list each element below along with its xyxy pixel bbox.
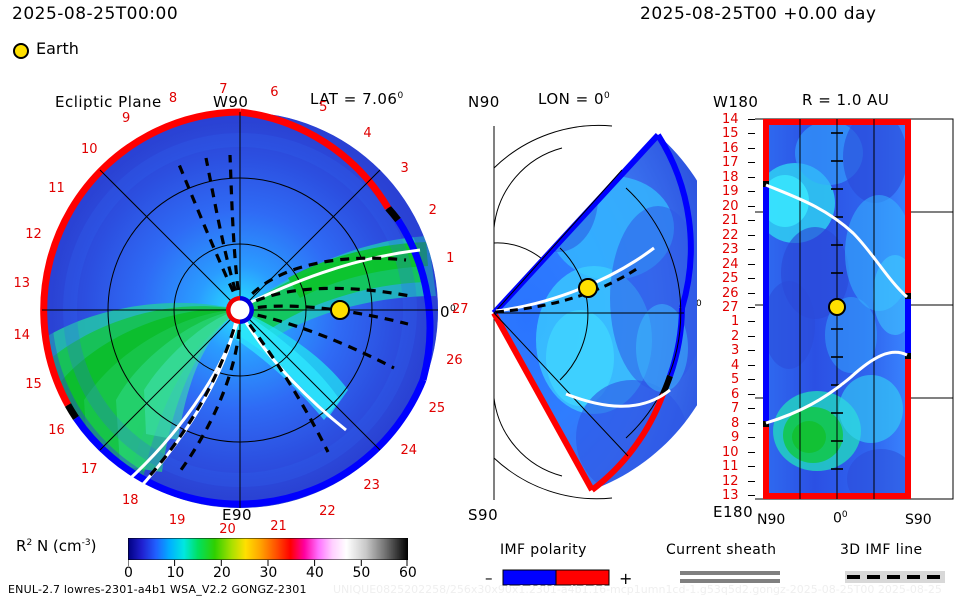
ecliptic-rim-label: 21 xyxy=(270,520,287,533)
map-y-tick-label: 13 xyxy=(722,489,739,502)
map-y-tick-mark xyxy=(748,293,755,294)
map-y-tick-mark xyxy=(748,495,755,496)
map-y-tick-mark xyxy=(748,307,755,308)
meridional-panel-title: LON = 00 xyxy=(538,92,610,107)
ecliptic-rim-label: 6 xyxy=(270,86,278,99)
map-y-tick-label: 2 xyxy=(731,330,739,343)
map-y-tick-label: 12 xyxy=(722,475,739,488)
map-y-tick-label: 14 xyxy=(722,113,739,126)
ecliptic-plot-svg xyxy=(28,100,458,520)
colorbar-tick-label: 40 xyxy=(306,566,324,580)
colorbar-tick-label: 20 xyxy=(213,566,231,580)
map-x-zero-text: 0 xyxy=(833,511,842,527)
map-y-tick-label: 8 xyxy=(731,417,739,430)
colorbar-tick-label: 30 xyxy=(260,566,278,580)
map-y-tick-label: 22 xyxy=(722,229,739,242)
map-y-tick-label: 25 xyxy=(722,272,739,285)
meridional-title-text: LON = 0 xyxy=(538,90,604,108)
map-y-tick-mark xyxy=(748,119,755,120)
map-y-tick-mark xyxy=(748,379,755,380)
map-y-tick-label: 20 xyxy=(722,200,739,213)
imf-3d-swatch xyxy=(845,570,950,584)
map-y-tick-label: 1 xyxy=(731,315,739,328)
map-y-tick-mark xyxy=(748,437,755,438)
map-y-tick-mark xyxy=(748,177,755,178)
map-y-tick-mark xyxy=(748,394,755,395)
colorbar-tick-label: 10 xyxy=(167,566,185,580)
ecliptic-rim-label: 20 xyxy=(219,523,236,536)
colorbar-tick-label: 60 xyxy=(399,566,417,580)
map-y-tick-label: 10 xyxy=(722,446,739,459)
map-x-label-zero: 00 xyxy=(833,511,848,526)
map-y-tick-mark xyxy=(748,350,755,351)
map-y-tick-label: 9 xyxy=(731,431,739,444)
map-y-tick-mark xyxy=(748,336,755,337)
map-y-tick-label: 4 xyxy=(731,359,739,372)
imf-3d-legend xyxy=(845,570,950,584)
earth-marker-ecliptic xyxy=(331,301,349,319)
meridional-title-degree: 0 xyxy=(604,91,610,101)
map-y-tick-label: 11 xyxy=(722,460,739,473)
synoptic-map-plot xyxy=(755,113,960,505)
colorbar-tick-label: 50 xyxy=(353,566,371,580)
map-y-tick-mark xyxy=(748,264,755,265)
map-x-label-n90: N90 xyxy=(757,513,785,527)
map-y-tick-label: 3 xyxy=(731,344,739,357)
map-y-tick-mark xyxy=(748,466,755,467)
colorbar xyxy=(128,538,418,568)
map-y-tick-mark xyxy=(748,481,755,482)
colorbar-label-unit-exp: -3 xyxy=(82,538,91,548)
colorbar-label-rest: N (cm xyxy=(32,537,81,555)
colorbar-ticks xyxy=(128,560,418,568)
map-y-tick-label: 16 xyxy=(722,142,739,155)
map-y-tick-label: 6 xyxy=(731,388,739,401)
map-y-tick-mark xyxy=(748,133,755,134)
timestamp-left: 2025-08-25T00:00 xyxy=(12,6,178,23)
map-y-tick-mark xyxy=(748,249,755,250)
footer-model-text: ENUL-2.7 lowres-2301-a4b1 WSA_V2.2 GONGZ… xyxy=(8,584,307,595)
current-sheath-legend xyxy=(680,570,790,584)
earth-marker-map xyxy=(829,299,845,315)
earth-legend-label: Earth xyxy=(36,41,79,57)
map-x-label-s90: S90 xyxy=(905,513,932,527)
map-y-tick-mark xyxy=(748,408,755,409)
map-y-tick-mark xyxy=(748,365,755,366)
map-y-tick-label: 27 xyxy=(722,301,739,314)
meridional-plot-svg xyxy=(462,108,697,508)
colorbar-label-close: ) xyxy=(91,537,97,555)
colorbar-label: R2 N (cm-3) xyxy=(16,539,96,554)
colorbar-tick-label: 0 xyxy=(124,566,133,580)
current-sheath-swatch xyxy=(680,570,790,584)
meridional-plane-plot xyxy=(462,108,697,508)
map-y-tick-mark xyxy=(748,220,755,221)
map-y-tick-label: 7 xyxy=(731,402,739,415)
meridional-bottom-axis-label: S90 xyxy=(468,508,498,523)
map-y-tick-mark xyxy=(748,191,755,192)
colorbar-gradient xyxy=(128,538,408,560)
map-y-tick-mark xyxy=(748,162,755,163)
earth-legend-icon xyxy=(10,40,160,62)
map-y-tick-label: 23 xyxy=(722,243,739,256)
map-y-tick-label: 21 xyxy=(722,214,739,227)
map-y-tick-label: 5 xyxy=(731,373,739,386)
map-y-tick-label: 19 xyxy=(722,185,739,198)
map-y-tick-mark xyxy=(748,321,755,322)
imf-3d-legend-title: 3D IMF line xyxy=(840,543,923,557)
map-x-zero-degree: 0 xyxy=(842,510,848,520)
ecliptic-plane-plot xyxy=(28,100,458,520)
map-bottom-left-label: E180 xyxy=(713,505,753,520)
map-y-tick-label: 24 xyxy=(722,258,739,271)
map-y-tick-mark xyxy=(748,148,755,149)
timestamp-right: 2025-08-25T00 +0.00 day xyxy=(640,6,876,23)
map-top-left-label: W180 xyxy=(713,95,758,110)
map-y-tick-label: 17 xyxy=(722,156,739,169)
footer-watermark: UNIQUE0825202258/256x30x90x1.2301-a4b1.1… xyxy=(333,584,942,595)
colorbar-label-r: R xyxy=(16,537,26,555)
map-y-tick-mark xyxy=(748,278,755,279)
current-sheath-legend-title: Current sheath xyxy=(666,543,776,557)
sun-marker xyxy=(226,296,254,324)
earth-marker-meridional xyxy=(579,279,597,297)
earth-legend: Earth xyxy=(10,40,160,62)
imf-polarity-legend-title: IMF polarity xyxy=(500,543,587,557)
synoptic-map-svg xyxy=(755,113,960,505)
map-y-tick-mark xyxy=(748,423,755,424)
map-y-tick-label: 26 xyxy=(722,287,739,300)
map-y-tick-mark xyxy=(748,235,755,236)
map-y-tick-mark xyxy=(748,206,755,207)
map-y-tick-mark xyxy=(748,452,755,453)
map-y-tick-label: 15 xyxy=(722,127,739,140)
map-y-tick-label: 18 xyxy=(722,171,739,184)
map-panel-title: R = 1.0 AU xyxy=(802,93,889,108)
